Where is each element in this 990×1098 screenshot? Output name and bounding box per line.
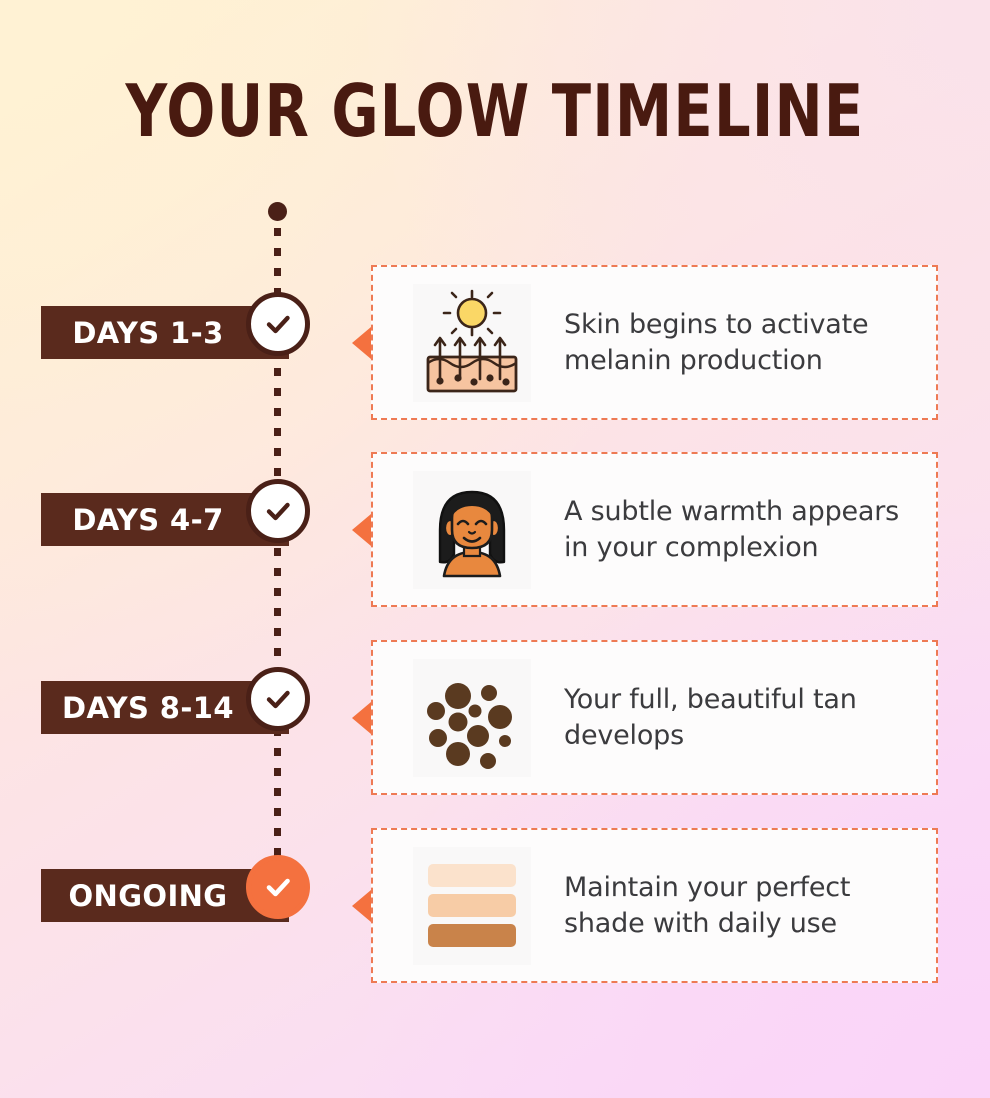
timeline-start-dot: [268, 202, 287, 221]
left-arrow-icon: [352, 514, 371, 546]
step-label-text: DAYS 1-3: [72, 316, 223, 350]
check-icon: [246, 479, 310, 543]
melanin-dots-icon: [413, 659, 531, 777]
check-icon: [246, 292, 310, 356]
step-label-text: ONGOING: [68, 879, 227, 913]
left-arrow-icon: [352, 702, 371, 734]
timeline-step: DAYS 8-14: [0, 640, 990, 795]
timeline-step: DAYS 1-3: [0, 265, 990, 420]
page-title: YOUR GLOW TIMELINE: [99, 68, 891, 154]
sun-over-skin-icon: [413, 284, 531, 402]
step-description: Skin begins to activate melanin producti…: [564, 307, 914, 379]
step-label-text: DAYS 8-14: [62, 691, 234, 725]
glow-timeline-poster: YOUR GLOW TIMELINE DAYS 1-3: [0, 0, 990, 1098]
step-card: A subtle warmth appears in your complexi…: [371, 452, 938, 607]
step-description: Your full, beautiful tan develops: [564, 682, 914, 754]
shade-swatches-icon: [413, 847, 531, 965]
smiling-woman-icon: [413, 471, 531, 589]
step-description: A subtle warmth appears in your complexi…: [564, 494, 914, 566]
timeline-step: ONGOING Maintain your perfect shade with…: [0, 828, 990, 983]
left-arrow-icon: [352, 327, 371, 359]
step-label-text: DAYS 4-7: [72, 503, 223, 537]
left-arrow-icon: [352, 890, 371, 922]
step-card: Maintain your perfect shade with daily u…: [371, 828, 938, 983]
step-card: Your full, beautiful tan develops: [371, 640, 938, 795]
check-icon: [246, 855, 310, 919]
check-icon: [246, 667, 310, 731]
timeline-step: DAYS 4-7: [0, 452, 990, 607]
step-description: Maintain your perfect shade with daily u…: [564, 870, 914, 942]
step-card: Skin begins to activate melanin producti…: [371, 265, 938, 420]
